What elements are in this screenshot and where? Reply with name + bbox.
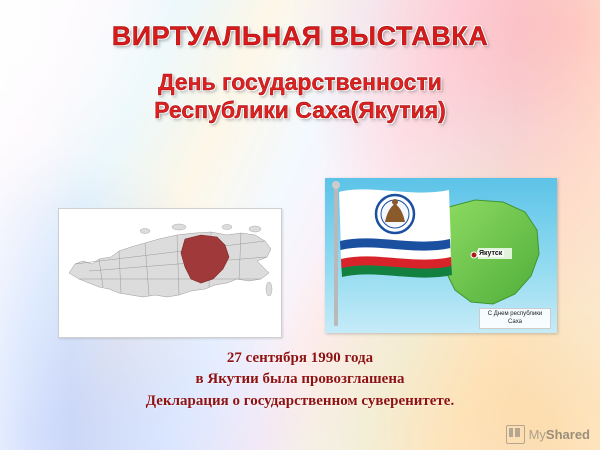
declaration-line-2: в Якутии была провозглашена — [0, 369, 600, 390]
declaration-text: 27 сентября 1990 года в Якутии была пров… — [0, 348, 600, 412]
caption-line-2: Саха — [481, 319, 549, 327]
yakutsk-city-label: Якутск — [477, 250, 504, 257]
myshared-logo-icon — [506, 425, 525, 444]
declaration-line-3: Декларация о государственном суверенитет… — [0, 391, 600, 412]
caption-line-1: С Днем республики — [481, 311, 549, 319]
sakha-postcard-image: Якутск С Днем республики Саха — [325, 178, 557, 333]
watermark-prefix: My — [529, 427, 546, 442]
russia-map-svg — [59, 209, 279, 335]
myshared-watermark: MyShared — [506, 425, 590, 444]
watermark-brand: Shared — [546, 427, 590, 442]
subtitle-line-1: День государственности — [158, 69, 442, 95]
russia-map-image — [58, 208, 282, 338]
myshared-watermark-text: MyShared — [529, 427, 590, 442]
subtitle-line-2: Республики Саха(Якутия) — [0, 96, 600, 124]
slide-canvas: ВИРТУАЛЬНАЯ ВЫСТАВКА День государственно… — [0, 0, 600, 450]
postcard-caption: С Днем республики Саха — [479, 308, 551, 329]
title-block: ВИРТУАЛЬНАЯ ВЫСТАВКА День государственно… — [0, 22, 600, 124]
declaration-line-1: 27 сентября 1990 года — [0, 348, 600, 369]
page-subtitle: День государственности Республики Саха(Я… — [0, 68, 600, 124]
page-title: ВИРТУАЛЬНАЯ ВЫСТАВКА — [0, 22, 600, 50]
